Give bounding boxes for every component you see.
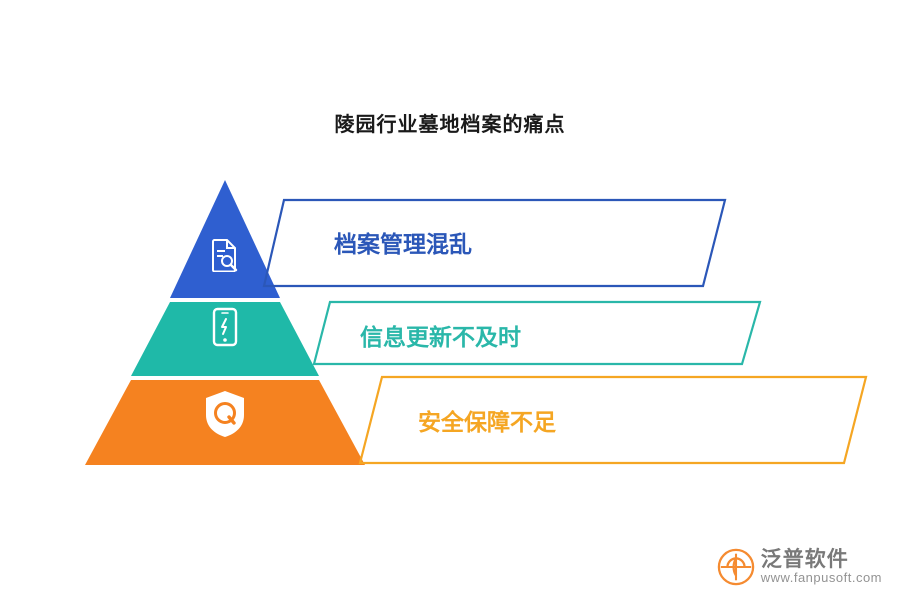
shield-quality-icon: [85, 389, 365, 444]
banner-3-label: 安全保障不足: [418, 403, 556, 437]
diagram-canvas: 陵园行业墓地档案的痛点: [0, 0, 900, 600]
fanpu-logo-icon: [717, 548, 755, 586]
banner-info-update: 信息更新不及时: [312, 300, 762, 366]
watermark-url: www.fanpusoft.com: [761, 571, 882, 585]
banner-security: 安全保障不足: [358, 375, 868, 465]
watermark: 泛普软件 www.fanpusoft.com: [717, 548, 882, 586]
banner-archive-chaos: 档案管理混乱: [262, 198, 727, 288]
watermark-name: 泛普软件: [761, 548, 882, 571]
page-title: 陵园行业墓地档案的痛点: [0, 108, 900, 137]
banner-1-label: 档案管理混乱: [334, 225, 472, 259]
banner-2-label: 信息更新不及时: [360, 318, 521, 352]
